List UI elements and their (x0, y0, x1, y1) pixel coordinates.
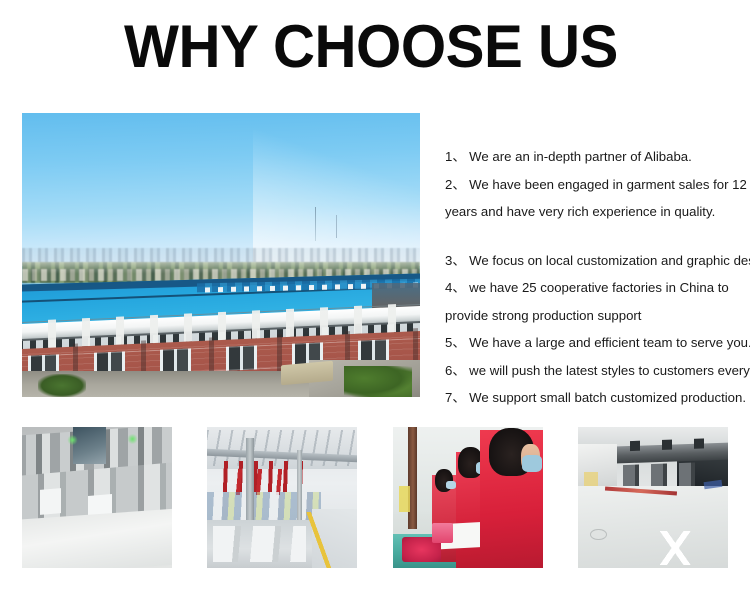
sky-haze (253, 113, 420, 266)
trees-right (344, 366, 412, 397)
embroidery-indicator-light-2-icon (127, 434, 138, 444)
worker-3-face-mask-icon (446, 481, 457, 489)
workers-wooden-post (408, 427, 417, 529)
embroidery-panel-1 (40, 488, 61, 515)
factory-hero-image (22, 113, 420, 397)
advantage-item-1: 1、 We are an in-depth partner of Alibaba… (445, 143, 745, 171)
gallery-thumbnail-production-line (207, 427, 357, 568)
machine-fabric-fold (644, 531, 710, 565)
advantage-item-7: 7、 We support small batch customized pro… (445, 384, 745, 412)
advantage-item-5: 5、 We have a large and efficient team to… (445, 329, 745, 357)
hall-yellow-floor-line (291, 512, 348, 568)
antenna-tower-small-icon (336, 215, 337, 238)
why-choose-us-page: WHY CHOOSE US 1、 We are an in (0, 0, 750, 590)
embroidery-fabric (22, 509, 172, 568)
advantage-item-2-cont: years and have very rich experience in q… (445, 198, 745, 226)
gallery-thumbnail-embroidery (22, 427, 172, 568)
advantage-item-3: 3、 We focus on local customization and g… (445, 247, 745, 275)
embroidery-backdrop-dark (73, 427, 106, 464)
worker-1-face-mask-icon (522, 455, 542, 472)
gallery-thumbnail-workers (393, 427, 543, 568)
trees-left (38, 374, 86, 397)
advantage-item-6: 6、 we will push the latest styles to cus… (445, 357, 745, 385)
page-title: WHY CHOOSE US (124, 16, 618, 78)
gallery-thumbnail-printing-machine (578, 427, 728, 568)
advantages-list: 1、 We are an in-depth partner of Alibaba… (445, 143, 745, 412)
antenna-tower-icon (315, 207, 317, 241)
advantage-item-2: 2、 We have been engaged in garment sales… (445, 171, 745, 199)
advantage-item-4-cont: provide strong production support (445, 302, 745, 330)
embroidery-indicator-light-icon (67, 435, 78, 445)
workers-yellow-object (399, 486, 410, 511)
workers-pink-garment (432, 523, 453, 543)
advantage-item-4: 4、 we have 25 cooperative factories in C… (445, 274, 745, 302)
machine-oval-detail (590, 529, 607, 540)
